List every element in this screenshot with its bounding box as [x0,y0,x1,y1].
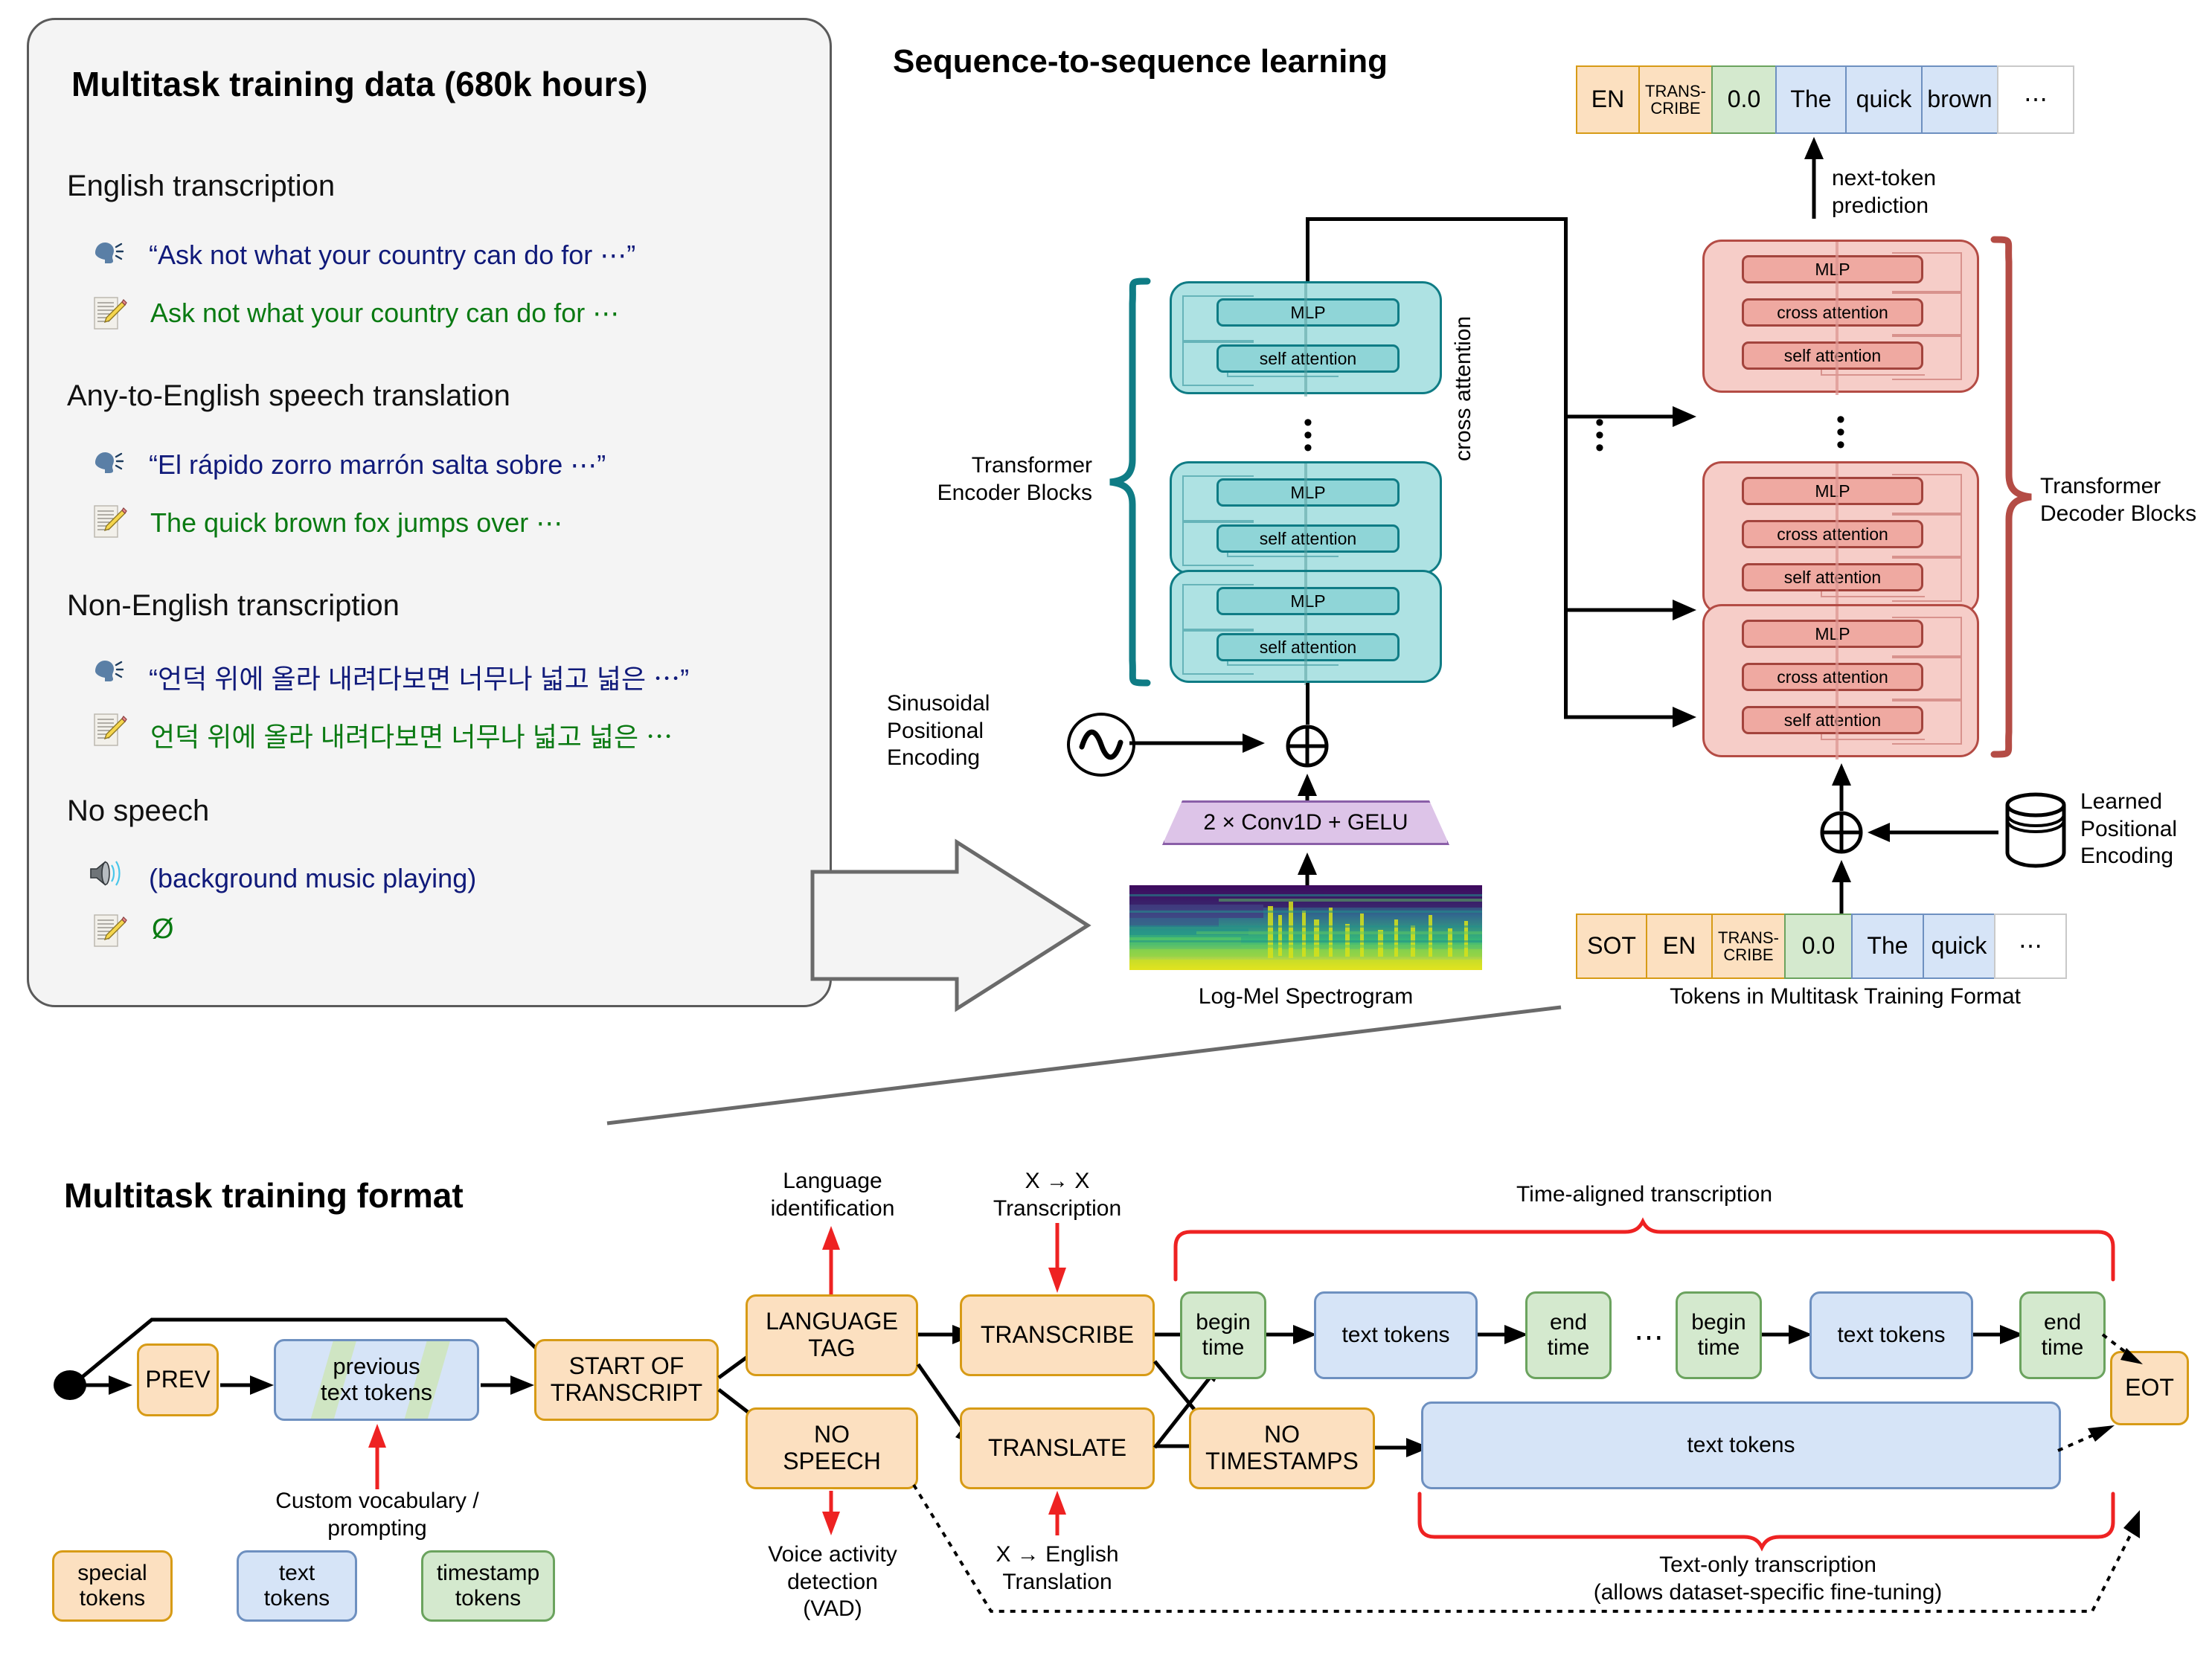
decoder-block-mid: MLP cross attention self attention [1702,461,1979,614]
decoder-bracket [1988,237,2040,760]
decoder-vertical-ellipsis: ••• [1826,414,1856,452]
custom-vocabulary-label: Custom vocabulary / prompting [243,1488,512,1542]
node-end-time-1: end time [1525,1291,1612,1379]
encoder-trunk-line-bottom [1304,572,1307,685]
node-language-tag: LANGUAGE TAG [746,1294,918,1376]
spoken-example-3: “언덕 위에 올라 내려다보면 너무나 넓고 넓은 ⋯” [149,658,689,696]
cross-attention-label: cross attention [1451,316,1476,461]
node-text-tokens-long: text tokens [1421,1402,2061,1489]
learned-pe-to-plus-arrow [1865,820,2000,845]
x-to-x-transcription-red-arrow [1043,1221,1073,1296]
decoder-plus-to-block-arrow [1827,759,1857,812]
decoder-block-top: MLP cross attention self attention [1702,240,1979,393]
decoder-block-bottom: MLP cross attention self attention [1702,604,1979,757]
decoder-trunk-line-mid [1836,463,1838,617]
node-text-tokens-1: text tokens [1314,1291,1478,1379]
token-0-0: 0.0 [1784,914,1853,979]
decoder-mlp-mid: MLP [1742,477,1923,505]
cross-attention-arrow-top [1564,402,1705,431]
x-to-x-transcription-label: X → X Transcription [958,1168,1156,1222]
written-example-3: 언덕 위에 올라 내려다보면 너무나 넓고 넓은 ⋯ [150,716,673,754]
decoder-self-attention-top: self attention [1742,341,1923,370]
written-example-2: The quick brown fox jumps over ⋯ [150,507,562,539]
decoder-cross-attention-bottom: cross attention [1742,663,1923,691]
end-time-to-eot-dotted-arrow [2103,1335,2147,1372]
token-: ⋯ [1997,65,2074,134]
node-start-of-transcript: START OF TRANSCRIPT [534,1339,719,1421]
node-end-time-2: end time [2019,1291,2106,1379]
encoder-block-mid: MLP self attention [1170,461,1442,574]
legend-special-tokens: special tokens [52,1550,173,1622]
decoder-self-attention-mid: self attention [1742,563,1923,591]
conv1d-gelu-block: 2 × Conv1D + GELU [1162,800,1449,845]
category-any-to-english-translation: Any-to-English speech translation [67,379,510,413]
encoder-mlp-mid: MLP [1216,478,1400,507]
language-identification-label: Language identification [728,1168,937,1222]
output-token-row: ENTRANS- CRIBE0.0Thequickbrown⋯ [1576,65,2074,134]
encoder-self-attention-mid: self attention [1216,524,1400,553]
tokens-to-plus-arrow [1827,855,1857,915]
node-begin-time-1: begin time [1180,1291,1266,1379]
text-only-transcription-label: Text-only transcription (allows dataset-… [1414,1552,2122,1606]
memo-pencil-icon [92,296,125,329]
training-data-title: Multitask training data (680k hours) [71,64,647,104]
text-tokens-long-to-eot-dotted-arrow [2058,1418,2120,1460]
decoder-bracket-label: Transformer Decoder Blocks [2040,473,2211,527]
encoder-self-attention-bottom: self attention [1216,633,1400,661]
speaking-head-icon [91,446,124,479]
time-aligned-transcription-label: Time-aligned transcription [1399,1181,1890,1209]
legend-text-tokens: text tokens [237,1550,357,1622]
token-en: EN [1576,65,1640,134]
decoder-cross-attention-mid: cross attention [1742,520,1923,548]
encoder-output-line-h [1306,217,1568,221]
format-title: Multitask training format [64,1175,464,1216]
token-brown: brown [1921,65,1998,134]
category-english-transcription: English transcription [67,170,335,203]
custom-vocabulary-red-arrow [363,1419,393,1491]
node-prev: PREV [137,1343,219,1416]
encoder-self-attention-top: self attention [1216,344,1400,373]
encoder-mlp-bottom: MLP [1216,587,1400,615]
node-previous-text-tokens: previous text tokens [274,1339,479,1421]
start-to-prev-arrow [85,1373,138,1399]
next-token-prediction-arrow [1801,131,1830,220]
encoder-block-top: MLP self attention [1170,281,1442,394]
written-example-1: Ask not what your country can do for ⋯ [150,298,619,329]
category-non-english-transcription: Non-English transcription [67,589,400,623]
encoder-trunk-line-mid [1304,463,1307,577]
plus-to-encoder-line [1306,683,1309,725]
node-begin-time-2: begin time [1676,1291,1762,1379]
next-token-prediction-label: next-token prediction [1832,165,1936,219]
decoder-cross-attention-top: cross attention [1742,298,1923,327]
memo-pencil-icon [92,713,125,745]
pipeline-ellipsis: ⋯ [1634,1323,1668,1352]
token-quick: quick [1923,914,1995,979]
speaking-head-icon [91,655,124,687]
token-the: The [1851,914,1924,979]
memo-pencil-icon [92,504,125,537]
vad-red-arrow [817,1489,847,1538]
speaking-head-icon [91,237,124,269]
token-0-0: 0.0 [1711,65,1777,134]
token-sot: SOT [1576,914,1647,979]
encoder-bracket-label: Transformer Encoder Blocks [917,452,1092,507]
encoder-mlp-top: MLP [1216,298,1400,327]
sinusoidal-positional-encoding-label: Sinusoidal Positional Encoding [887,690,1058,772]
node-transcribe: TRANSCRIBE [960,1294,1155,1376]
cross-attention-arrow-mid [1564,595,1705,625]
text-only-transcription-brace [1417,1492,2119,1549]
seq2seq-title: Sequence-to-sequence learning [893,43,1388,80]
loud-speaker-icon [88,857,121,890]
legend-timestamp-tokens: timestamp tokens [421,1550,555,1622]
node-text-tokens-2: text tokens [1809,1291,1973,1379]
spoken-example-1: “Ask not what your country can do for ⋯” [149,240,635,271]
encoder-trunk-line-top [1304,283,1307,396]
spoken-example-4: (background music playing) [149,863,476,894]
learned-positional-encoding-label: Learned Positional Encoding [2080,789,2212,870]
encoder-block-bottom: MLP self attention [1170,570,1442,683]
decoder-trunk-line-bottom [1836,606,1838,760]
decoder-self-attention-bottom: self attention [1742,706,1923,734]
cross-attention-bus [1564,217,1568,717]
sinusoid-to-plus-arrow [1129,731,1271,756]
node-previous-text-tokens-label: previous text tokens [321,1354,432,1405]
language-identification-red-arrow [817,1221,847,1296]
decoder-mlp-bottom: MLP [1742,620,1923,648]
format-panel-connector [580,1006,1562,1134]
tokens-caption: Tokens in Multitask Training Format [1562,983,2128,1011]
node-translate: TRANSLATE [960,1407,1155,1489]
input-token-row: SOTENTRANS- CRIBE0.0Thequick⋯ [1576,914,2067,979]
log-mel-spectrogram [1129,885,1482,970]
encoder-vertical-ellipsis: ••• [1293,417,1323,455]
spoken-example-2: “El rápido zorro marrón salta sobre ⋯” [149,449,606,481]
encoder-output-line-v [1306,217,1309,284]
token-the: The [1775,65,1847,134]
token-trans-cribe: TRANS- CRIBE [1638,65,1713,134]
node-no-speech: NO SPEECH [746,1407,918,1489]
node-no-timestamps: NO TIMESTAMPS [1189,1407,1375,1489]
token-: ⋯ [1994,914,2067,979]
category-no-speech: No speech [67,794,209,828]
token-quick: quick [1845,65,1923,134]
token-en: EN [1646,914,1713,979]
encoder-bracket [1101,278,1153,686]
cross-attention-arrow-bottom [1564,702,1705,732]
decoder-trunk-line-top [1836,242,1838,395]
token-trans-cribe: TRANS- CRIBE [1711,914,1786,979]
time-aligned-transcription-brace [1173,1224,2116,1281]
sine-wave-icon [1067,713,1135,777]
memo-pencil-icon [92,914,125,946]
written-example-4: Ø [152,914,174,945]
panel-transition-arrow [811,841,1094,1012]
decoder-mlp-top: MLP [1742,255,1923,283]
